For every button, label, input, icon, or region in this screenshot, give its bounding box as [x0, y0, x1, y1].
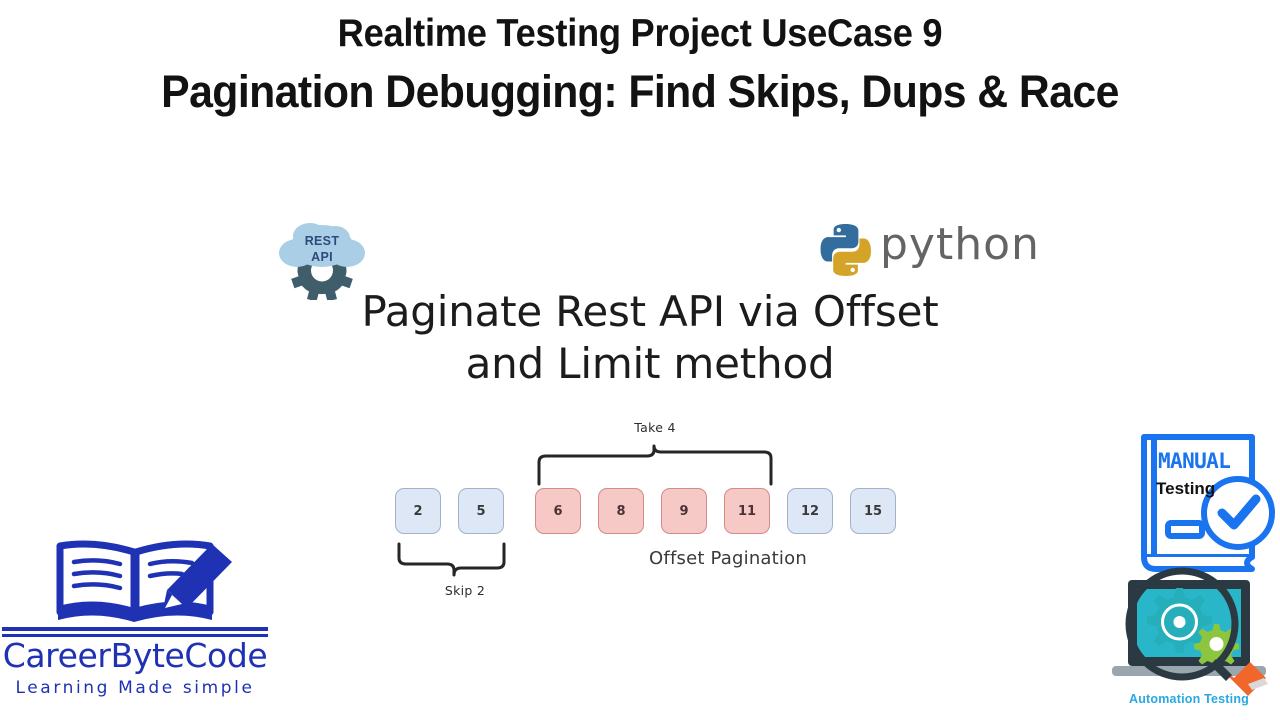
take-label: Take 4	[595, 420, 715, 435]
offset-pagination-label: Offset Pagination	[613, 548, 843, 569]
skip-label: Skip 2	[400, 583, 530, 598]
careerbytecode-logo: CareerByteCode Learning Made simple	[0, 528, 280, 713]
careerbytecode-wordmark: CareerByteCode	[0, 636, 270, 675]
page-title-line-1: Realtime Testing Project UseCase 9	[45, 12, 1235, 57]
graphic-heading-line-2: and Limit method	[290, 338, 1010, 390]
graphic-heading-line-1: Paginate Rest API via Offset	[290, 286, 1010, 338]
careerbytecode-tagline: Learning Made simple	[0, 678, 270, 698]
python-snake-icon	[818, 222, 874, 278]
manual-title: MANUAL	[1158, 449, 1230, 473]
automation-testing-logo: Automation Testing	[1098, 566, 1280, 720]
manual-testing-logo: MANUAL Testing	[1130, 425, 1280, 585]
pagination-diagram: Take 4 2 5 6 8 9 11 12 15 Skip 2 Offset …	[395, 420, 915, 610]
take-brace-icon	[535, 444, 780, 486]
book-pencil-icon	[0, 528, 270, 638]
python-logo: python	[818, 222, 1028, 280]
title-block: Realtime Testing Project UseCase 9 Pagin…	[0, 12, 1280, 119]
page-item-box[interactable]: 15	[850, 488, 896, 534]
page-item-box[interactable]: 2	[395, 488, 441, 534]
automation-testing-caption: Automation Testing	[1098, 692, 1280, 706]
python-wordmark: python	[880, 219, 1040, 270]
skip-brace-icon	[395, 542, 515, 582]
page-item-box[interactable]: 5	[458, 488, 504, 534]
automation-laptop-magnifier-icon	[1098, 566, 1280, 696]
page-item-box[interactable]: 8	[598, 488, 644, 534]
page-item-box[interactable]: 11	[724, 488, 770, 534]
page-title-line-2: Pagination Debugging: Find Skips, Dups &…	[32, 65, 1248, 119]
cloud-shape	[279, 223, 365, 267]
graphic-heading: Paginate Rest API via Offset and Limit m…	[290, 286, 1010, 390]
manual-subtitle: Testing	[1156, 479, 1215, 499]
page-item-box[interactable]: 12	[787, 488, 833, 534]
page-item-box[interactable]: 9	[661, 488, 707, 534]
page-item-box[interactable]: 6	[535, 488, 581, 534]
